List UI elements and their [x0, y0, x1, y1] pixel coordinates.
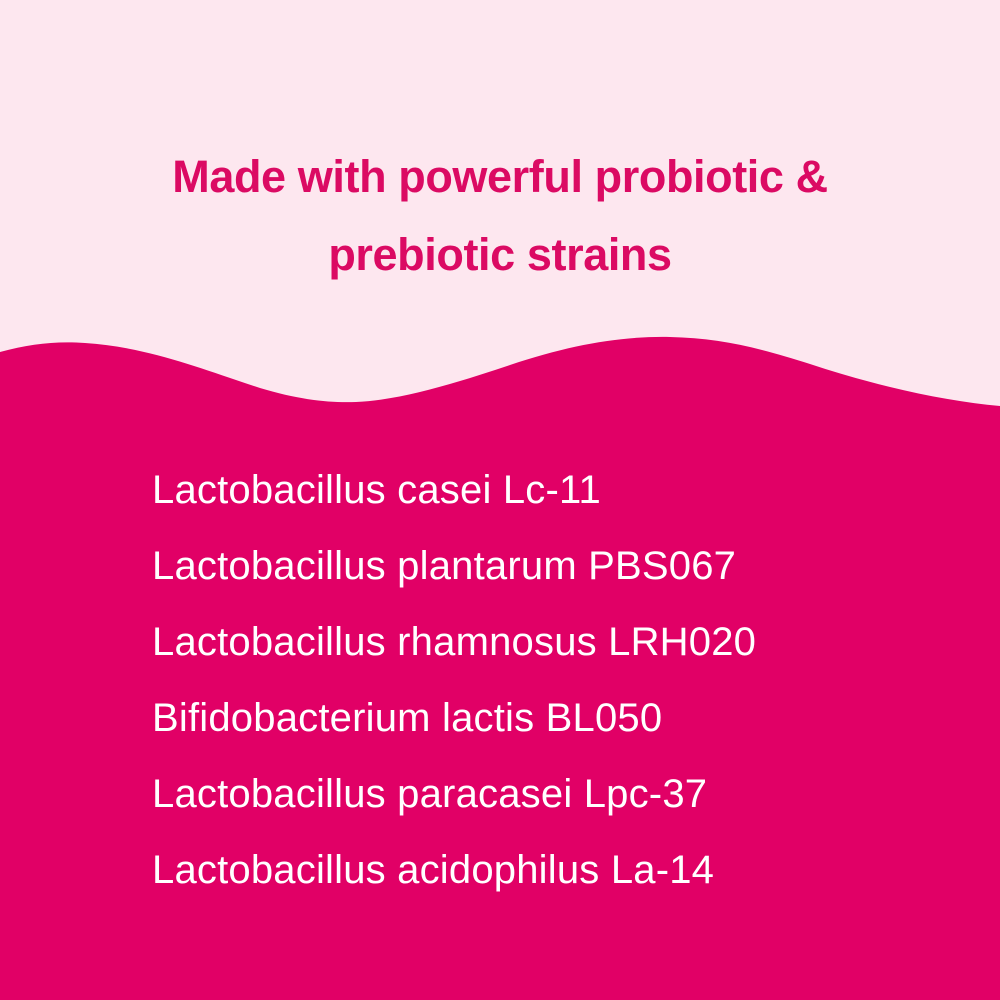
strain-list: Lactobacillus casei Lc-11 Lactobacillus …	[152, 466, 952, 922]
product-info-graphic: Made with powerful probiotic & prebiotic…	[0, 0, 1000, 1000]
list-item: Lactobacillus casei Lc-11	[152, 466, 952, 542]
list-item: Lactobacillus plantarum PBS067	[152, 542, 952, 618]
list-item: Lactobacillus paracasei Lpc-37	[152, 770, 952, 846]
list-item: Bifidobacterium lactis BL050	[152, 694, 952, 770]
headline-line-2: prebiotic strains	[0, 216, 1000, 294]
page-title: Made with powerful probiotic & prebiotic…	[0, 138, 1000, 294]
list-item: Lactobacillus acidophilus La-14	[152, 846, 952, 922]
list-item: Lactobacillus rhamnosus LRH020	[152, 618, 952, 694]
headline-line-1: Made with powerful probiotic &	[0, 138, 1000, 216]
